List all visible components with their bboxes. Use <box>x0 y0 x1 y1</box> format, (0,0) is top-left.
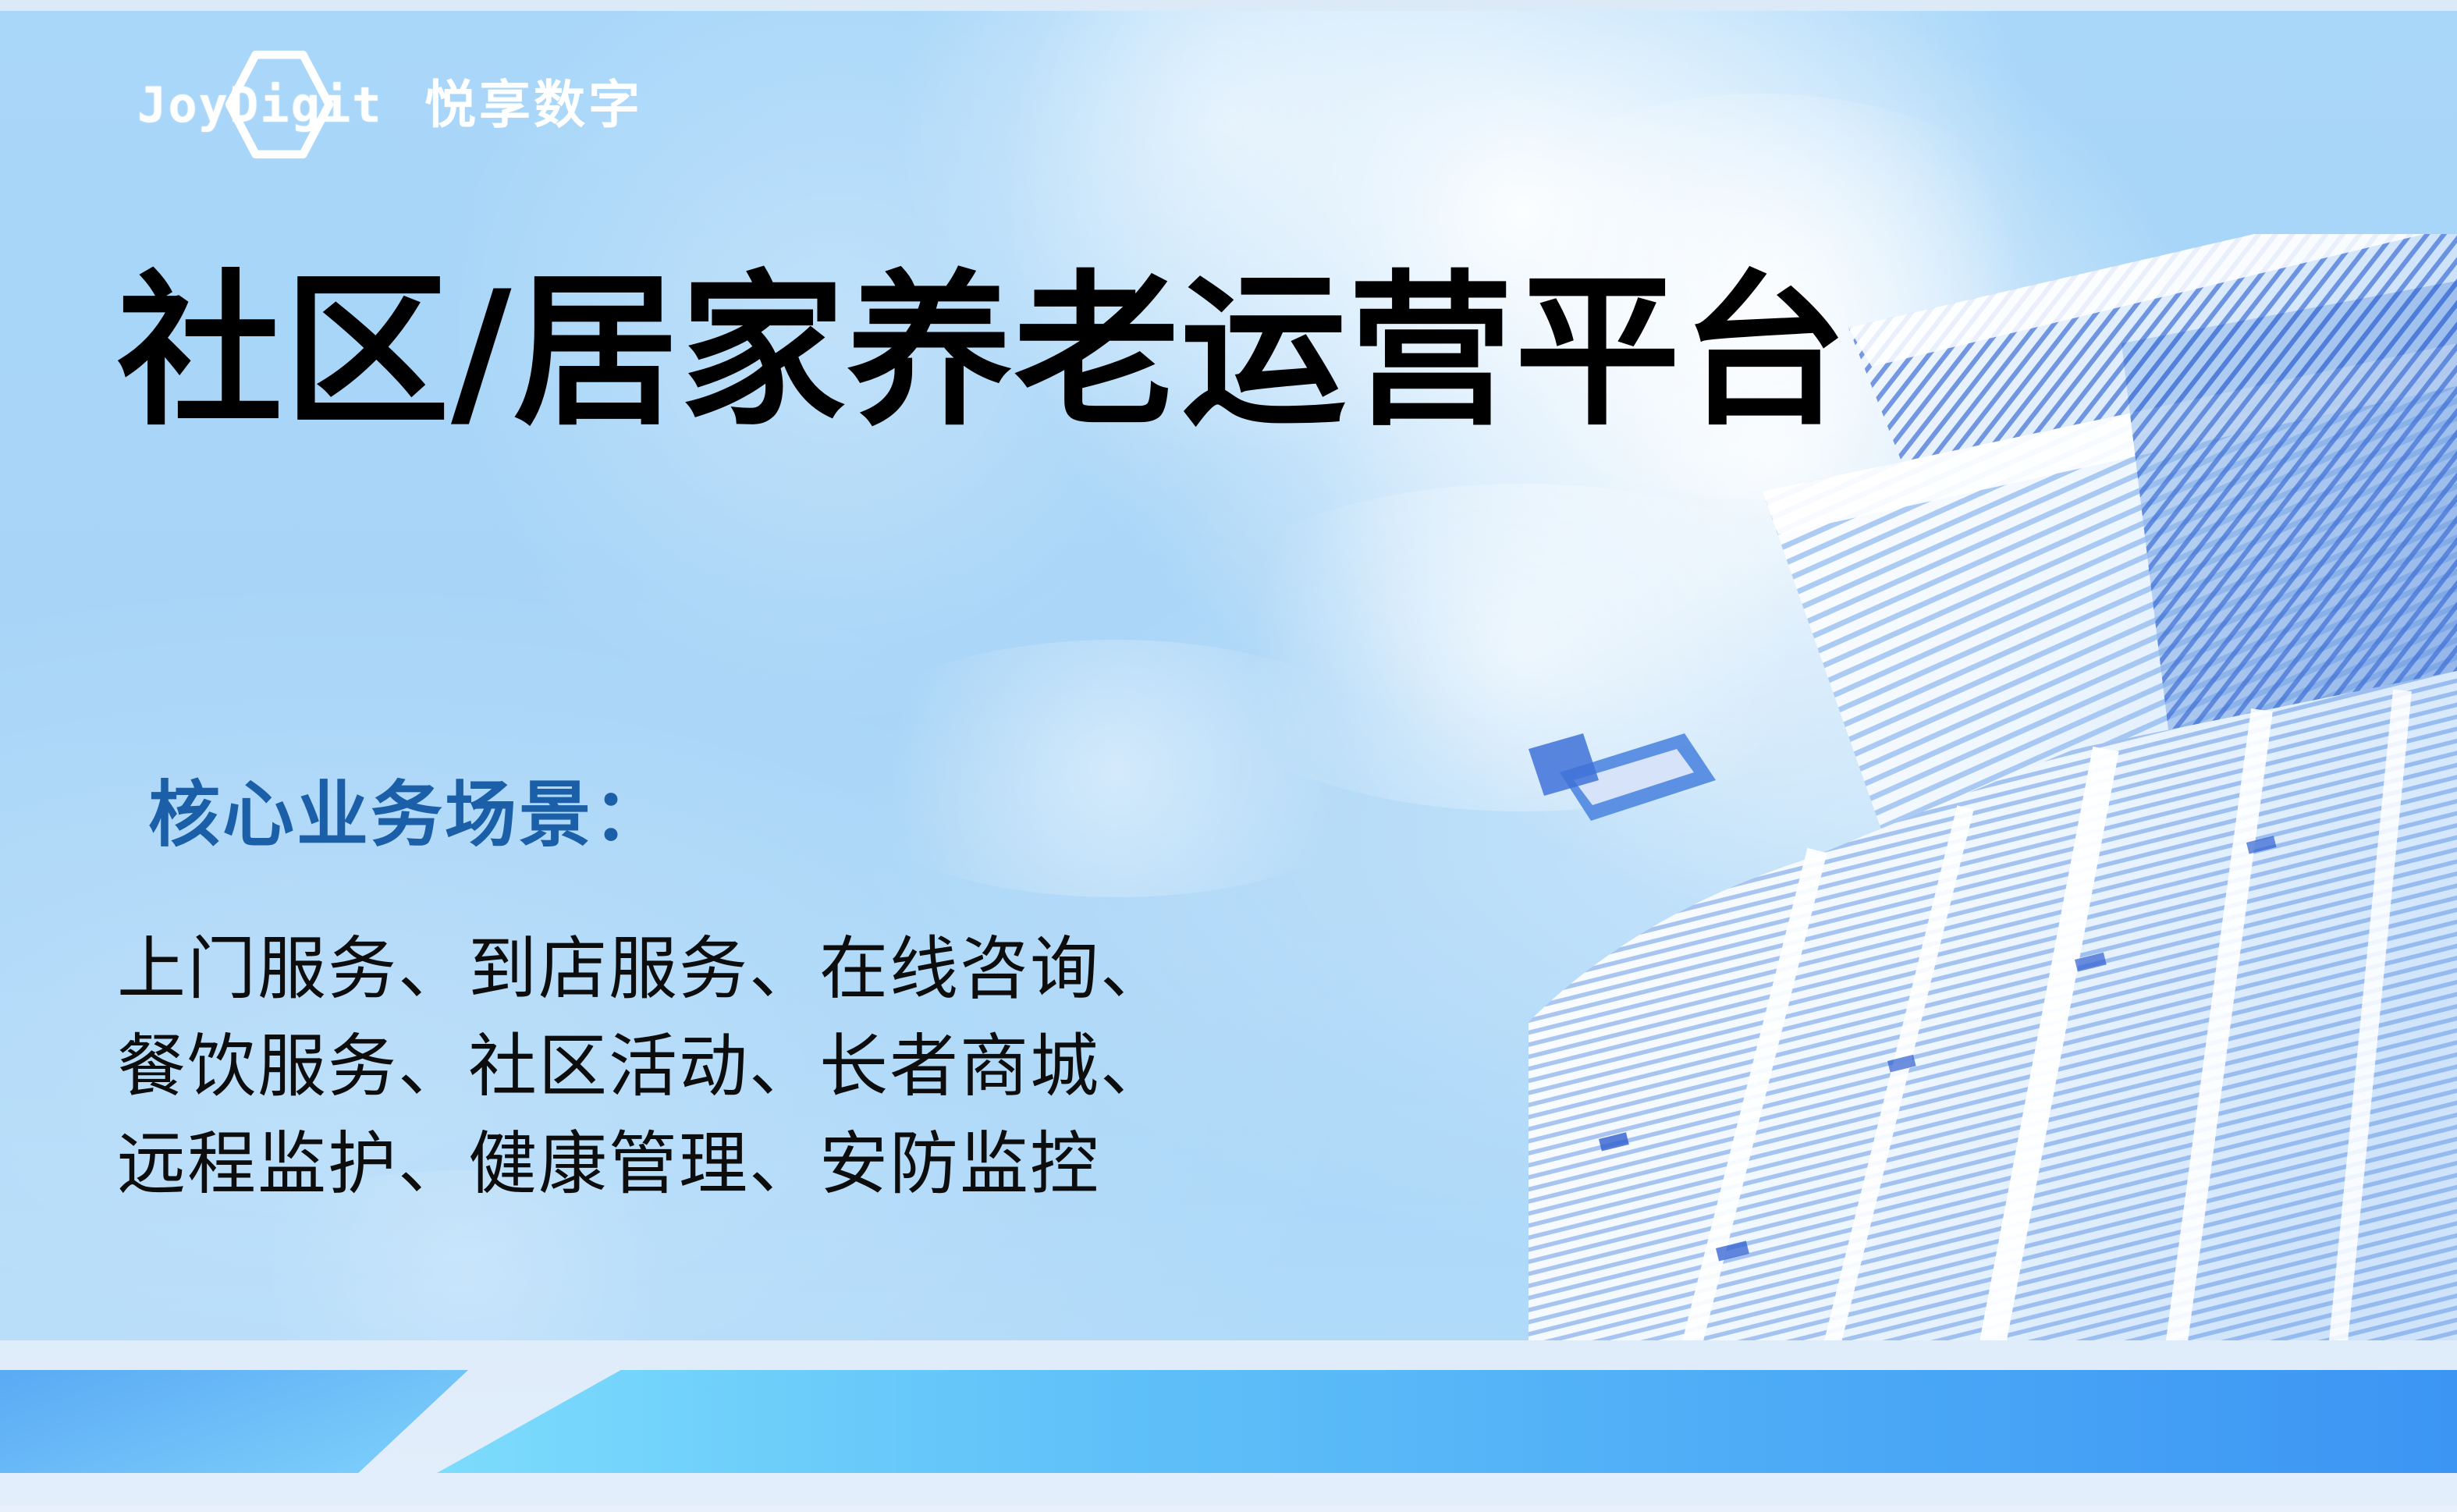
logo-mark: JoyDigit <box>137 72 395 139</box>
logo-chinese-name: 悦享数字 <box>424 80 643 131</box>
top-edge-strip <box>0 0 2457 11</box>
business-scenario-list: 上门服务、到店服务、在线咨询、 餐饮服务、社区活动、长者商城、 远程监护、健康管… <box>117 921 1170 1213</box>
scenario-line: 远程监护、健康管理、安防监控 <box>117 1116 1170 1213</box>
slide-canvas: JoyDigit 悦享数字 社区/居家养老运营平台 核心业务场景： 上门服务、到… <box>0 0 2457 1512</box>
bottom-edge-strip <box>0 1506 2457 1512</box>
section-heading: 核心业务场景： <box>148 772 667 858</box>
parallelogram-accent-right <box>437 1370 2457 1473</box>
page-title: 社区/居家养老运营平台 <box>117 259 1848 444</box>
scenario-line: 餐饮服务、社区活动、长者商城、 <box>117 1018 1170 1116</box>
scenario-line: 上门服务、到店服务、在线咨询、 <box>117 921 1170 1018</box>
brand-logo: JoyDigit 悦享数字 <box>137 72 643 139</box>
logo-wordmark: JoyDigit <box>137 81 383 130</box>
bottom-accent-band <box>0 1340 2457 1512</box>
